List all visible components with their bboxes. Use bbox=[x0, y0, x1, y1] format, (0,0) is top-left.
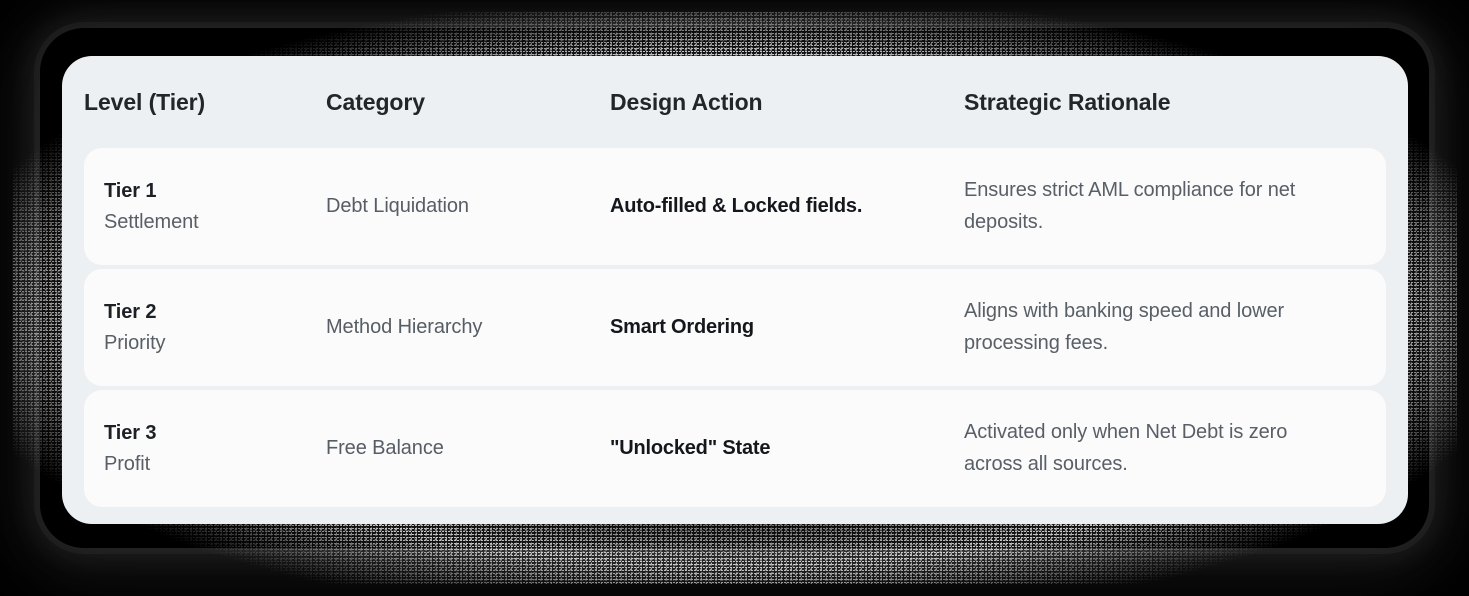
cell-strategic-rationale: Activated only when Net Debt is zero acr… bbox=[964, 417, 1344, 480]
cell-category: Method Hierarchy bbox=[326, 316, 610, 339]
cell-category: Free Balance bbox=[326, 437, 610, 460]
tier-label: Tier 3 bbox=[104, 418, 310, 449]
table-row[interactable]: Tier 2 Priority Method Hierarchy Smart O… bbox=[84, 269, 1386, 386]
column-header-design-action: Design Action bbox=[610, 89, 964, 116]
cell-design-action: Smart Ordering bbox=[610, 316, 964, 339]
tier-sublabel: Profit bbox=[104, 449, 310, 480]
cell-design-action: "Unlocked" State bbox=[610, 437, 964, 460]
column-header-category: Category bbox=[326, 89, 610, 116]
tier-label: Tier 1 bbox=[104, 176, 310, 207]
cell-design-action: Auto-filled & Locked fields. bbox=[610, 195, 964, 218]
table-header-row: Level (Tier) Category Design Action Stra… bbox=[62, 56, 1408, 148]
column-header-level: Level (Tier) bbox=[84, 89, 326, 116]
table-row[interactable]: Tier 1 Settlement Debt Liquidation Auto-… bbox=[84, 148, 1386, 265]
tier-sublabel: Settlement bbox=[104, 207, 310, 238]
table-row[interactable]: Tier 3 Profit Free Balance "Unlocked" St… bbox=[84, 390, 1386, 507]
cell-level: Tier 3 Profit bbox=[84, 418, 326, 480]
cell-category: Debt Liquidation bbox=[326, 195, 610, 218]
cell-strategic-rationale: Aligns with banking speed and lower proc… bbox=[964, 296, 1344, 359]
cell-level: Tier 1 Settlement bbox=[84, 176, 326, 238]
cell-level: Tier 2 Priority bbox=[84, 297, 326, 359]
tier-table-card: Level (Tier) Category Design Action Stra… bbox=[62, 56, 1408, 524]
tier-sublabel: Priority bbox=[104, 328, 310, 359]
cell-strategic-rationale: Ensures strict AML compliance for net de… bbox=[964, 175, 1344, 238]
column-header-strategic-rationale: Strategic Rationale bbox=[964, 89, 1386, 116]
tier-label: Tier 2 bbox=[104, 297, 310, 328]
table-body: Tier 1 Settlement Debt Liquidation Auto-… bbox=[62, 148, 1408, 523]
